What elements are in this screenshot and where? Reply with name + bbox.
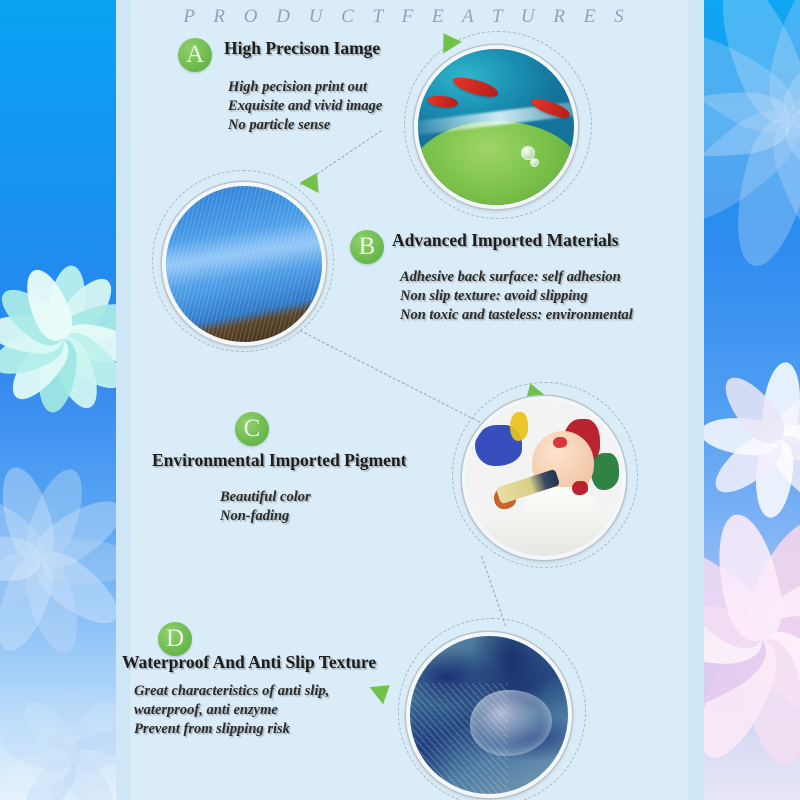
feature-photo-b — [162, 182, 326, 346]
feature-heading-a: High Precison Iamge — [224, 38, 380, 59]
page-title: P R O D U C T F E A T U R E S — [130, 6, 684, 28]
product-features-infographic: P R O D U C T F E A T U R E S A High Pre… — [0, 0, 800, 800]
right-band-gap — [688, 0, 704, 800]
feature-badge-a: A — [178, 38, 212, 72]
feature-heading-c: Environmental Imported Pigment — [152, 450, 406, 471]
connector-c-to-d — [481, 556, 506, 626]
feature-badge-b: B — [350, 230, 384, 264]
feature-photo-c — [462, 396, 626, 560]
feature-heading-d: Waterproof And Anti Slip Texture — [122, 652, 376, 673]
feature-body-a: High pecision print out Exquisite and vi… — [228, 78, 382, 135]
feature-photo-d — [406, 632, 572, 798]
feature-body-d: Great characteristics of anti slip, wate… — [134, 682, 329, 739]
feature-badge-d: D — [158, 622, 192, 656]
feature-body-b: Adhesive back surface: self adhesion Non… — [400, 268, 633, 325]
feature-body-c: Beautiful color Non-fading — [220, 488, 311, 526]
feature-badge-c: C — [235, 412, 269, 446]
content-panel: P R O D U C T F E A T U R E S A High Pre… — [130, 0, 684, 800]
feature-heading-b: Advanced Imported Materials — [392, 230, 619, 251]
feature-photo-a — [414, 45, 578, 209]
left-decorative-band — [0, 0, 116, 800]
arrow-marker-d — [370, 677, 397, 705]
right-decorative-band — [704, 0, 800, 800]
left-band-gap — [116, 0, 130, 800]
